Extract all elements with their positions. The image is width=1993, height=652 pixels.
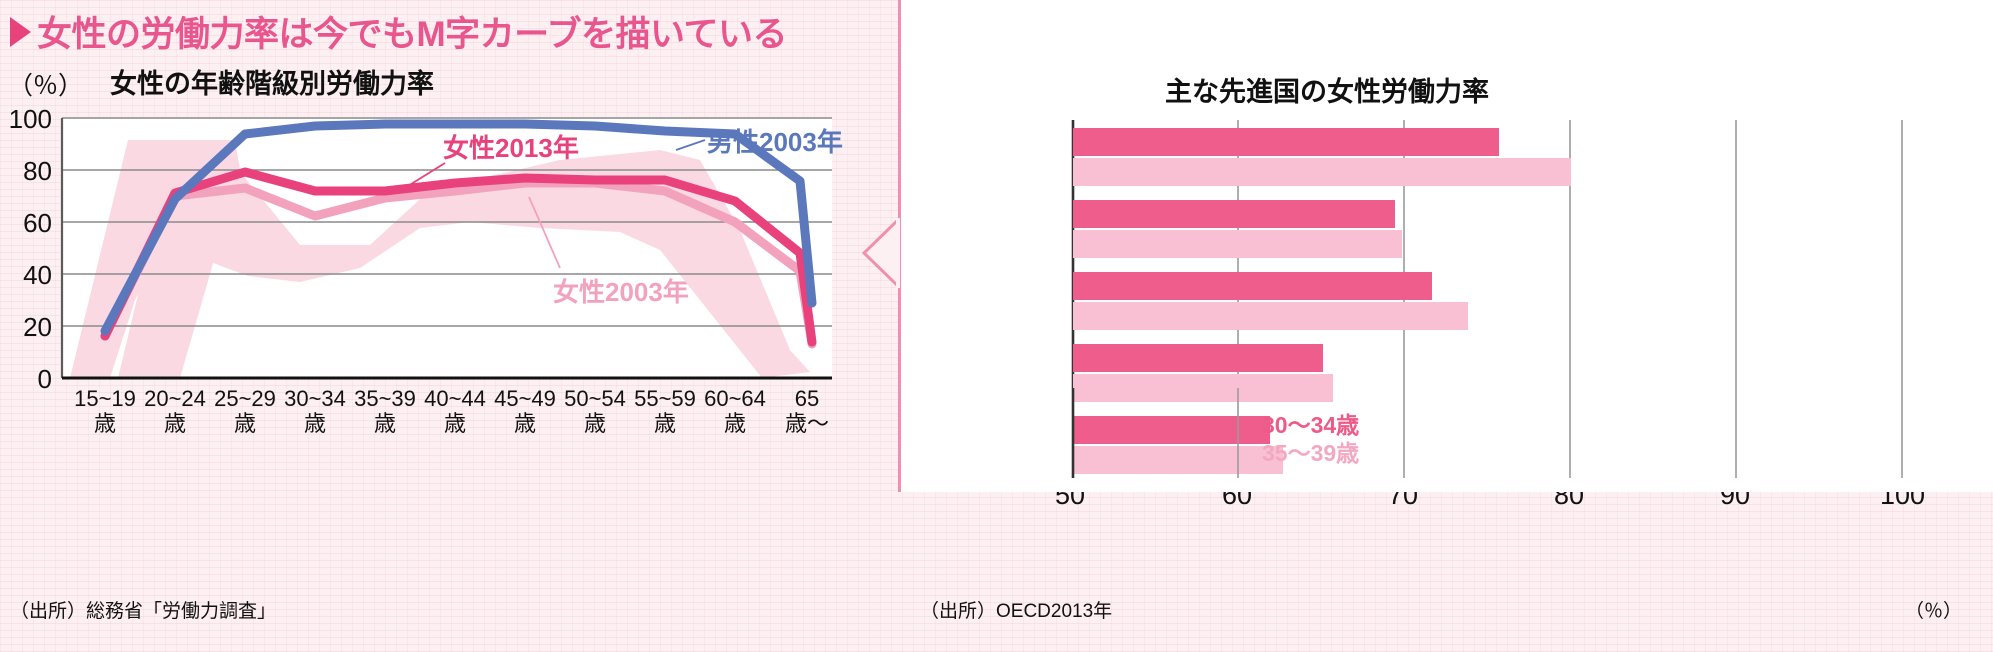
bar-japan-30-34 — [1073, 416, 1270, 444]
right-source-note: （出所）OECD2013年 — [920, 596, 1112, 623]
women-labor-force-line-chart — [0, 0, 880, 470]
bar-france-30-34 — [1073, 272, 1432, 300]
bar-japan-35-39 — [1073, 446, 1283, 474]
legend-label-35-39: 35〜39歳 — [1262, 434, 1359, 468]
bar-france-35-39 — [1073, 302, 1468, 330]
bar-usa-35-39 — [1073, 374, 1333, 402]
right-x-axis-unit: （％） — [1905, 596, 1962, 623]
bar-germany-30-34 — [1073, 200, 1395, 228]
m-curve-highlight-band — [70, 140, 810, 378]
connector-notch-icon — [860, 218, 900, 288]
left-source-note: （出所）総務省「労働力調査」 — [10, 596, 276, 623]
leader-line-male — [676, 140, 705, 150]
developed-countries-bar-chart — [898, 20, 1993, 490]
left-panel: 女性の労働力率は今でもM字カーブを描いている 女性の年齢階級別労働力率 （％） — [0, 0, 880, 652]
bar-germany-35-39 — [1073, 230, 1402, 258]
bar-sweden-30-34 — [1073, 128, 1499, 156]
bar-usa-30-34 — [1073, 344, 1323, 372]
bar-sweden-35-39 — [1073, 158, 1571, 186]
